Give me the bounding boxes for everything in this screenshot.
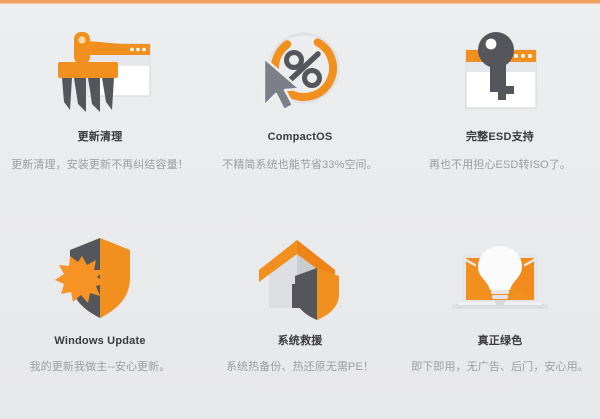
feature-description: 即下即用，无广告、后门，安心用。 xyxy=(411,360,589,375)
feature-description: 我的更新我做主--安心更新。 xyxy=(30,360,171,375)
feature-card-update-cleanup[interactable]: 更新清理 更新清理，安装更新不再纠结容量！ xyxy=(0,4,200,212)
features-grid: 更新清理 更新清理，安装更新不再纠结容量！ CompactO xyxy=(0,4,600,419)
bulb-laptop-icon xyxy=(440,228,560,328)
feature-card-system-rescue[interactable]: 系统救援 系统热备份、热还原无需PE！ xyxy=(200,212,400,419)
feature-title: 系统救援 xyxy=(278,334,323,348)
feature-card-windows-update[interactable]: Windows Update 我的更新我做主--安心更新。 xyxy=(0,212,200,419)
feature-title: 完整ESD支持 xyxy=(466,130,534,144)
feature-title: Windows Update xyxy=(54,334,145,348)
feature-description: 系统热备份、热还原无需PE！ xyxy=(226,360,374,375)
feature-title: 真正绿色 xyxy=(478,334,523,348)
feature-title: 更新清理 xyxy=(78,130,123,144)
feature-grid-page: 更新清理 更新清理，安装更新不再纠结容量！ CompactO xyxy=(0,0,600,419)
feature-description: 再也不用担心ESD转ISO了。 xyxy=(429,158,571,173)
feature-card-truly-green[interactable]: 真正绿色 即下即用，无广告、后门，安心用。 xyxy=(400,212,600,419)
feature-card-compactos[interactable]: CompactOS 不精简系统也能节省33%空间。 xyxy=(200,4,400,212)
key-window-icon xyxy=(440,20,560,124)
house-shield-icon xyxy=(240,228,360,328)
feature-description: 不精简系统也能节省33%空间。 xyxy=(222,158,378,173)
virus-shield-icon xyxy=(40,228,160,328)
feature-description: 更新清理，安装更新不再纠结容量！ xyxy=(11,158,189,173)
broom-window-icon xyxy=(40,20,160,124)
feature-card-esd-support[interactable]: 完整ESD支持 再也不用担心ESD转ISO了。 xyxy=(400,4,600,212)
feature-title: CompactOS xyxy=(268,130,333,144)
percent-ring-cursor-icon xyxy=(240,20,360,124)
